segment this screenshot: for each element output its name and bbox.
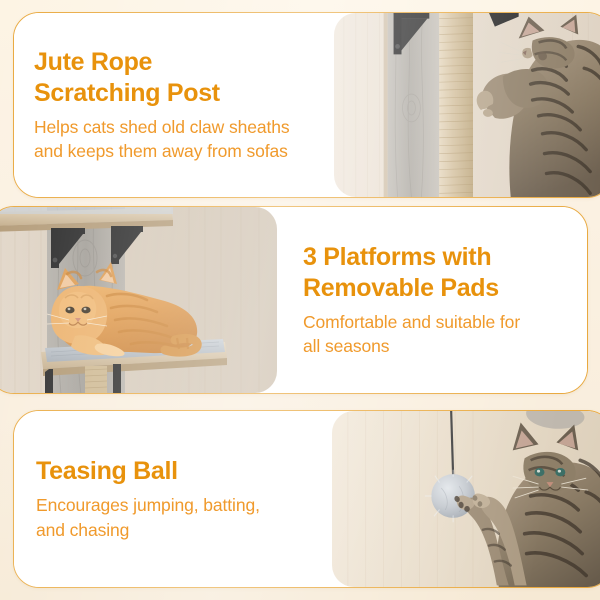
feature-card-teasing-ball: Teasing Ball Encourages jumping, batting… (13, 410, 600, 588)
headline-line-1: Jute Rope (34, 47, 316, 78)
headline-line-1: Teasing Ball (36, 456, 314, 487)
feature-headline: 3 Platforms with Removable Pads (303, 242, 569, 304)
body-line-1: Encourages jumping, batting, (36, 493, 314, 517)
headline-line-1: 3 Platforms with (303, 242, 569, 273)
feature-body: Encourages jumping, batting, and chasing (36, 493, 314, 541)
body-line-1: Comfortable and suitable for (303, 310, 569, 334)
feature-headline: Jute Rope Scratching Post (34, 47, 316, 109)
feature-headline: Teasing Ball (36, 456, 314, 487)
body-line-2: all seasons (303, 334, 569, 358)
feature-text-pane: 3 Platforms with Removable Pads Comforta… (277, 207, 587, 393)
feature-text-pane: Jute Rope Scratching Post Helps cats she… (14, 13, 334, 197)
headline-line-2: Scratching Post (34, 78, 316, 109)
body-line-2: and keeps them away from sofas (34, 139, 316, 163)
body-line-1: Helps cats shed old claw sheaths (34, 115, 316, 139)
body-line-2: and chasing (36, 518, 314, 542)
infographic-page: Jute Rope Scratching Post Helps cats she… (0, 0, 600, 600)
cat-scratching-post-photo (334, 13, 600, 197)
orange-cat-on-platform-photo (0, 207, 277, 393)
headline-line-2: Removable Pads (303, 273, 569, 304)
cat-batting-teasing-ball-photo (332, 411, 600, 587)
feature-card-jute-rope-scratching-post: Jute Rope Scratching Post Helps cats she… (13, 12, 600, 198)
feature-text-pane: Teasing Ball Encourages jumping, batting… (14, 411, 332, 587)
feature-body: Helps cats shed old claw sheaths and kee… (34, 115, 316, 163)
feature-card-three-platforms-removable-pads: 3 Platforms with Removable Pads Comforta… (0, 206, 588, 394)
feature-body: Comfortable and suitable for all seasons (303, 310, 569, 358)
